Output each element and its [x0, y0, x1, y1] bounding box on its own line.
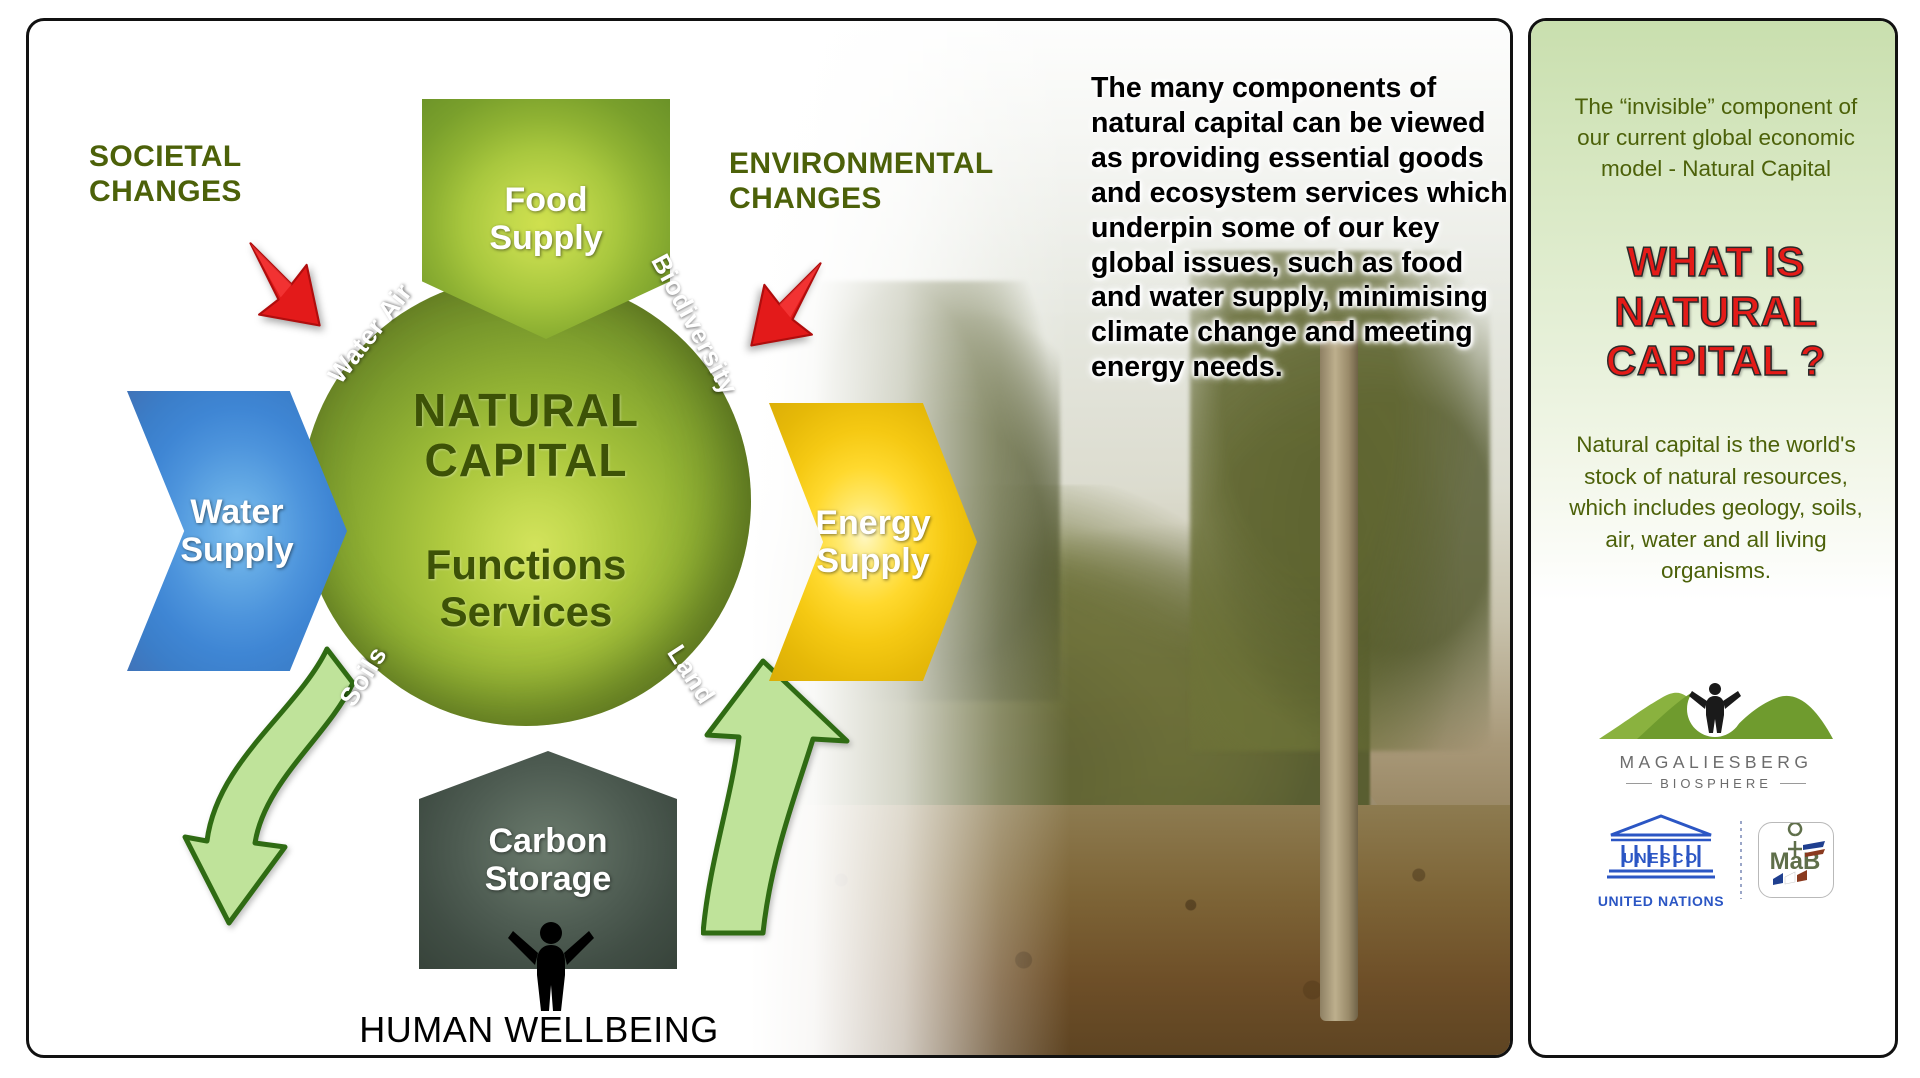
core-subtitle: Functions Services	[351, 541, 701, 635]
natural-capital-diagram: Food Supply Water Supply Energy Supply C…	[29, 21, 929, 1055]
core-title-line1: NATURAL	[351, 386, 701, 436]
human-wellbeing-label: HUMAN WELLBEING	[359, 1009, 719, 1051]
red-arrow-environmental-icon	[719, 259, 827, 367]
core-subtitle-line2: Services	[351, 588, 701, 635]
block-energy-supply-line2: Supply	[815, 542, 930, 580]
block-carbon-storage-line2: Storage	[485, 860, 612, 898]
magaliesberg-logo: MAGALIESBERG BIOSPHERE	[1593, 669, 1839, 791]
block-water-supply-line1: Water	[180, 493, 293, 531]
core-title: NATURAL CAPITAL	[351, 386, 701, 485]
block-food-supply-line2: Supply	[489, 219, 602, 257]
unesco-label: UNITED NATIONS	[1598, 893, 1724, 909]
cycle-arrow-left-icon	[177, 641, 357, 941]
red-arrow-societal-icon	[244, 239, 352, 347]
infographic-poster: Food Supply Water Supply Energy Supply C…	[0, 0, 1920, 1078]
caption-environmental-changes: ENVIRONMENTAL CHANGES	[729, 146, 994, 217]
side-panel: The “invisible” component of our current…	[1528, 18, 1898, 1058]
unesco-wordmark: UNESCO	[1623, 850, 1699, 867]
side-panel-body: Natural capital is the world's stock of …	[1553, 429, 1879, 587]
core-subtitle-line1: Functions	[351, 541, 701, 588]
caption-societal-line1: SOCIETAL	[89, 139, 242, 174]
side-panel-heading-line3: CAPITAL ?	[1553, 336, 1879, 386]
partner-logos-row: UNESCO UNITED NATIONS MaB	[1579, 811, 1853, 909]
caption-societal-line2: CHANGES	[89, 174, 242, 209]
caption-environmental-line2: CHANGES	[729, 181, 994, 216]
logo-rule-right	[1780, 783, 1806, 784]
side-panel-heading: WHAT IS NATURAL CAPITAL ?	[1553, 237, 1879, 386]
side-panel-intro: The “invisible” component of our current…	[1557, 91, 1875, 184]
magaliesberg-logo-subtext: BIOSPHERE	[1660, 776, 1772, 791]
mab-logo: MaB	[1758, 822, 1834, 898]
lead-paragraph: The many components of natural capital c…	[1091, 71, 1511, 385]
side-panel-heading-line2: NATURAL	[1553, 287, 1879, 337]
human-figure-icon	[507, 919, 595, 1015]
logo-divider	[1740, 821, 1742, 899]
caption-societal-changes: SOCIETAL CHANGES	[89, 139, 242, 210]
block-carbon-storage-line1: Carbon	[485, 822, 612, 860]
unesco-logo: UNESCO UNITED NATIONS	[1598, 811, 1724, 909]
mab-icon: MaB	[1759, 823, 1831, 895]
block-food-supply-line1: Food	[489, 181, 602, 219]
cycle-arrow-right-icon	[701, 651, 881, 941]
core-title-line2: CAPITAL	[351, 436, 701, 486]
main-panel: Food Supply Water Supply Energy Supply C…	[26, 18, 1513, 1058]
magaliesberg-logo-name: MAGALIESBERG	[1593, 752, 1839, 773]
caption-environmental-line1: ENVIRONMENTAL	[729, 146, 994, 181]
unesco-temple-icon: UNESCO	[1603, 811, 1719, 885]
block-energy-supply-line1: Energy	[815, 504, 930, 542]
magaliesberg-mountain-icon	[1593, 669, 1839, 743]
side-panel-heading-line1: WHAT IS	[1553, 237, 1879, 287]
magaliesberg-logo-sub: BIOSPHERE	[1593, 776, 1839, 791]
logo-rule-left	[1626, 783, 1652, 784]
photo-tree-trunk	[1320, 321, 1358, 1021]
block-water-supply-line2: Supply	[180, 531, 293, 569]
